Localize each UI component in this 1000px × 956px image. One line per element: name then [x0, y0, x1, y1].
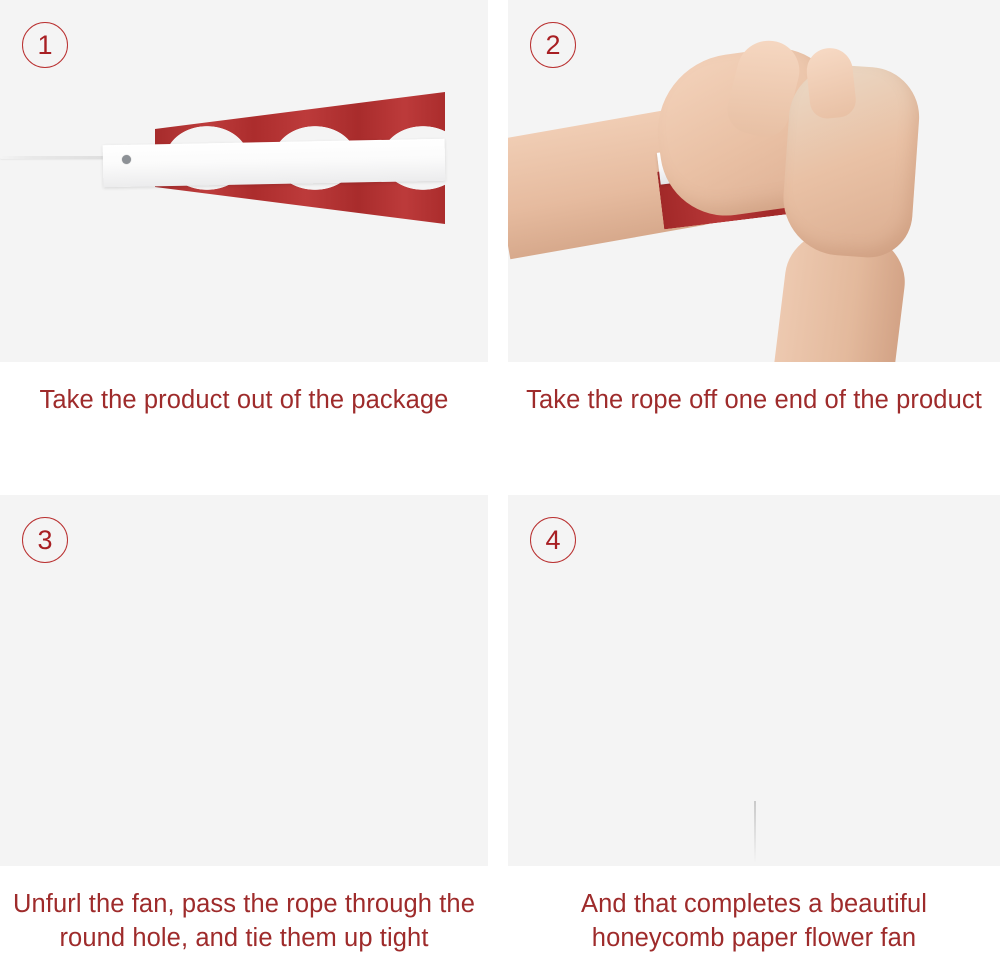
- step-4-scene: [508, 495, 1000, 866]
- step-2-caption: Take the rope off one end of the product: [508, 362, 1000, 495]
- step-2-badge: 2: [530, 22, 576, 68]
- step-2-caption-text: Take the rope off one end of the product: [526, 384, 982, 418]
- step-3-scene: [0, 495, 488, 866]
- step-2-photo: 2: [508, 0, 1000, 362]
- gutter-caption-1: [488, 362, 508, 495]
- step-1-scene: [0, 0, 488, 362]
- right-index-finger: [804, 46, 857, 120]
- step-1-badge: 1: [22, 22, 68, 68]
- step-1-number: 1: [37, 32, 52, 59]
- step-4-number: 4: [545, 527, 560, 554]
- step-4-photo: 4: [508, 495, 1000, 866]
- step-1-photo: 1: [0, 0, 488, 362]
- step-4-caption-text: And that completes a beautiful honeycomb…: [581, 888, 927, 955]
- step-2-scene: [508, 0, 1000, 362]
- step-1-caption: Take the product out of the package: [0, 362, 488, 495]
- step-4-badge: 4: [530, 517, 576, 563]
- gutter-bottom: [488, 495, 508, 866]
- gutter-caption-2: [488, 866, 508, 956]
- step-4-caption: And that completes a beautiful honeycomb…: [508, 866, 1000, 956]
- step-3-number: 3: [37, 527, 52, 554]
- step-3-photo: 3: [0, 495, 488, 866]
- step-3-caption: Unfurl the fan, pass the rope through th…: [0, 866, 488, 956]
- grommet-hole-icon: [122, 155, 131, 164]
- instruction-sheet: 1 2 Take the product out of the: [0, 0, 1000, 956]
- hanging-string: [754, 801, 756, 863]
- step-3-badge: 3: [22, 517, 68, 563]
- step-3-caption-text: Unfurl the fan, pass the rope through th…: [13, 888, 475, 955]
- white-strip: [103, 139, 446, 188]
- step-2-number: 2: [545, 32, 560, 59]
- gutter-top: [488, 0, 508, 362]
- step-1-caption-text: Take the product out of the package: [40, 384, 449, 418]
